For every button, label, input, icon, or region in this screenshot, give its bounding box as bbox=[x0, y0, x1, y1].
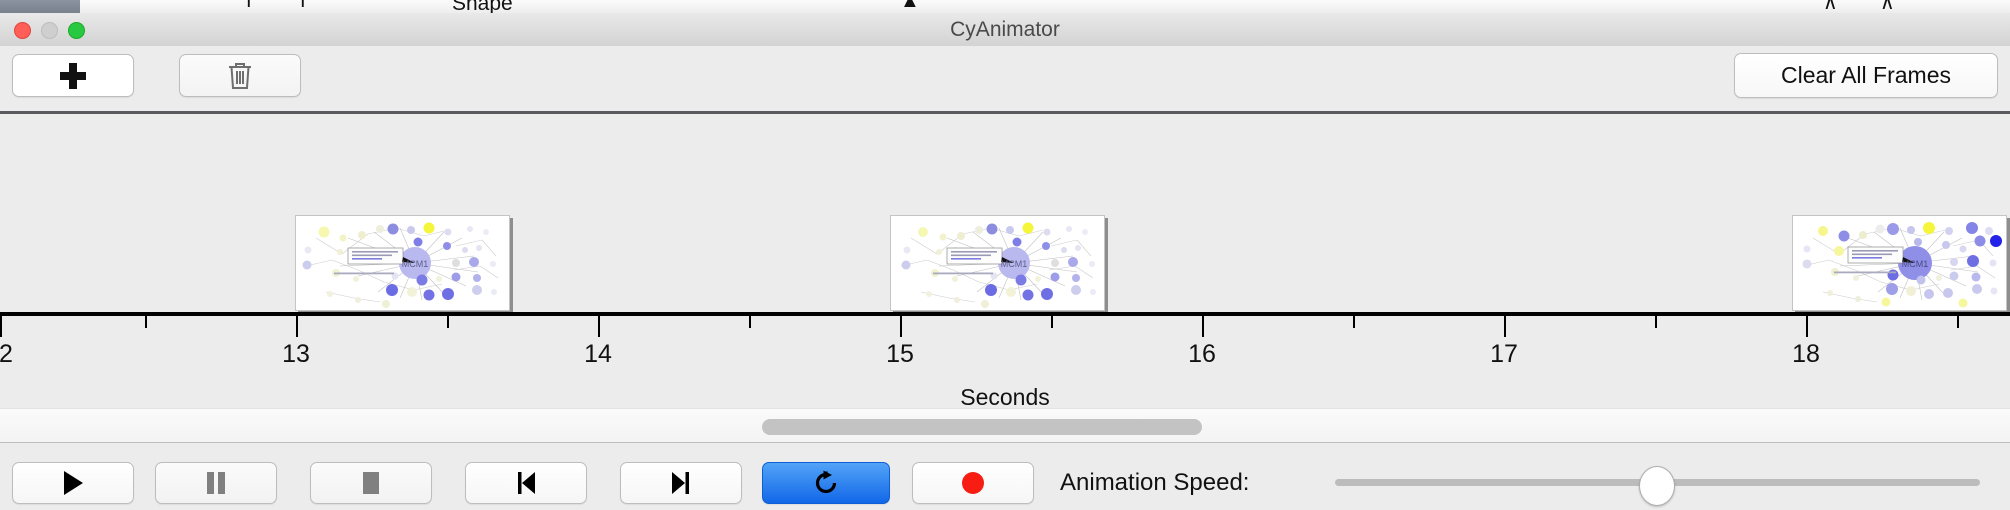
background-cell bbox=[960, 0, 1011, 13]
axis-tick-major bbox=[1806, 316, 1808, 337]
axis-tick-minor bbox=[145, 316, 147, 328]
delete-frame-button[interactable] bbox=[179, 54, 301, 97]
cyanimator-window: I I Shape ▲ ∧ ∧ CyAnimator Clear All F bbox=[0, 0, 2010, 510]
axis-tick-label: 17 bbox=[1490, 340, 1518, 369]
axis-tick-label: 14 bbox=[584, 340, 612, 369]
axis-tick-minor bbox=[1051, 316, 1053, 328]
axis-tick-minor bbox=[749, 316, 751, 328]
background-glyph: I bbox=[246, 0, 252, 13]
axis-tick-major bbox=[598, 316, 600, 337]
axis-tick-major bbox=[296, 316, 298, 337]
next-frame-button[interactable] bbox=[620, 462, 742, 504]
axis-tick-major bbox=[900, 316, 902, 337]
title-bar[interactable]: CyAnimator bbox=[0, 13, 2010, 47]
background-glyph: I bbox=[300, 0, 306, 13]
skip-forward-icon bbox=[668, 469, 694, 497]
loop-icon bbox=[812, 469, 840, 497]
plus-icon bbox=[60, 63, 86, 89]
clear-all-frames-label: Clear All Frames bbox=[1781, 62, 1951, 89]
background-glyph: ∧ bbox=[1823, 0, 1838, 14]
axis-tick-label: 18 bbox=[1792, 340, 1820, 369]
axis-tick-major bbox=[1202, 316, 1204, 337]
axis-tick-label: 16 bbox=[1188, 340, 1216, 369]
timeline-axis[interactable]: 2 13 14 15 16 17 18 Seconds bbox=[0, 312, 2010, 408]
background-cell bbox=[1010, 0, 1811, 13]
loop-button[interactable] bbox=[762, 462, 890, 504]
axis-tick-minor bbox=[1957, 316, 1959, 328]
background-window-label: Shape bbox=[452, 0, 513, 14]
pause-button[interactable] bbox=[155, 462, 277, 504]
frame-thumbnail[interactable]: MCM1 bbox=[295, 215, 510, 311]
clear-all-frames-button[interactable]: Clear All Frames bbox=[1734, 53, 1998, 98]
trash-icon bbox=[227, 61, 253, 91]
axis-tick-minor bbox=[1655, 316, 1657, 328]
background-cell bbox=[1910, 0, 2010, 13]
frame-toolbar bbox=[0, 46, 2010, 113]
axis-line bbox=[0, 312, 2010, 316]
frame-thumbnail[interactable]: MCM1 bbox=[890, 215, 1105, 311]
animation-speed-label: Animation Speed: bbox=[1060, 462, 1249, 504]
axis-tick-label: 2 bbox=[0, 340, 13, 369]
svg-text:MCM1: MCM1 bbox=[1001, 259, 1028, 269]
axis-tick-major bbox=[1504, 316, 1506, 337]
background-glyph: ▲ bbox=[900, 0, 920, 13]
background-window-sliver: I I Shape ▲ ∧ ∧ bbox=[0, 0, 2010, 14]
record-icon bbox=[960, 470, 986, 496]
stop-button[interactable] bbox=[310, 462, 432, 504]
scrollbar-thumb[interactable] bbox=[762, 419, 1202, 435]
svg-text:MCM1: MCM1 bbox=[402, 259, 429, 269]
axis-tick-label: 15 bbox=[886, 340, 914, 369]
background-cell bbox=[180, 0, 241, 13]
axis-tick-minor bbox=[447, 316, 449, 328]
window-title: CyAnimator bbox=[0, 13, 2010, 46]
skip-back-icon bbox=[513, 469, 539, 497]
stop-icon bbox=[359, 470, 383, 496]
svg-text:MCM1: MCM1 bbox=[1902, 259, 1929, 269]
frame-thumbnail[interactable]: MCM1 bbox=[1792, 215, 2007, 311]
record-button[interactable] bbox=[912, 462, 1034, 504]
background-cell bbox=[300, 0, 441, 13]
frame-timeline-panel[interactable]: MCM1 bbox=[0, 114, 2010, 312]
pause-icon bbox=[204, 469, 228, 497]
animation-speed-slider-thumb[interactable] bbox=[1639, 466, 1675, 506]
background-cell bbox=[80, 0, 181, 13]
background-glyph: ∧ bbox=[1880, 0, 1895, 14]
axis-tick-major bbox=[0, 316, 2, 337]
axis-title: Seconds bbox=[0, 384, 2010, 411]
add-frame-button[interactable] bbox=[12, 54, 134, 97]
axis-tick-label: 13 bbox=[282, 340, 310, 369]
axis-tick-minor bbox=[1353, 316, 1355, 328]
play-icon bbox=[60, 469, 86, 497]
play-button[interactable] bbox=[12, 462, 134, 504]
previous-frame-button[interactable] bbox=[465, 462, 587, 504]
